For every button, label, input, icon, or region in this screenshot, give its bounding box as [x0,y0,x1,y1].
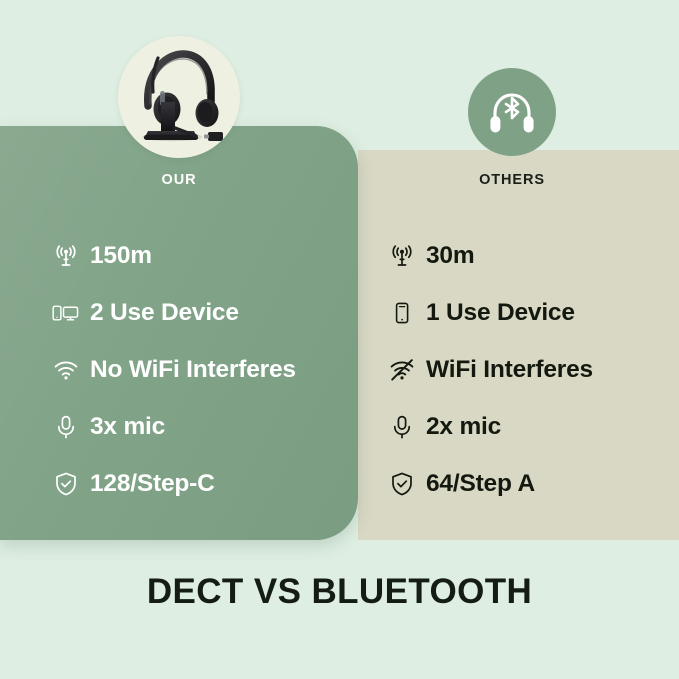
feature-label: 3x mic [90,413,165,441]
feature-row: No WiFi Interferes [52,342,352,398]
phone-icon [388,300,415,327]
broadcast-tower-icon [52,243,79,270]
shield-check-icon [52,471,79,498]
bluetooth-headphones-icon [468,68,556,156]
feature-label: 64/Step A [426,470,535,498]
feature-label: 2 Use Device [90,299,239,327]
feature-row: 1 Use Device [388,285,668,341]
page-title: DECT VS BLUETOOTH [0,572,679,612]
wireless-headset-photo [118,36,240,158]
shield-check-icon [388,471,415,498]
feature-row: WiFi Interferes [388,342,668,398]
feature-row: 3x mic [52,399,352,455]
microphone-icon [52,414,79,441]
feature-row: 64/Step A [388,456,668,512]
feature-label: No WiFi Interferes [90,356,296,384]
phone-and-monitor-icon [52,300,79,327]
our-feature-list: 150m 2 Use Device [52,228,352,513]
feature-row: 30m [388,228,668,284]
others-feature-list: 30m 1 Use Device [388,228,668,513]
our-column-label: OUR [118,172,240,188]
microphone-icon [388,414,415,441]
wifi-off-icon [388,357,415,384]
feature-row: 128/Step-C [52,456,352,512]
feature-label: 30m [426,242,474,270]
feature-label: 2x mic [426,413,501,441]
feature-row: 2 Use Device [52,285,352,341]
feature-row: 150m [52,228,352,284]
comparison-infographic: OUR OTHERS 150m [0,0,679,679]
feature-label: 128/Step-C [90,470,215,498]
feature-label: WiFi Interferes [426,356,593,384]
others-column-label: OTHERS [468,172,556,188]
feature-row: 2x mic [388,399,668,455]
feature-label: 150m [90,242,152,270]
broadcast-tower-icon [388,243,415,270]
feature-label: 1 Use Device [426,299,575,327]
wifi-icon [52,357,79,384]
